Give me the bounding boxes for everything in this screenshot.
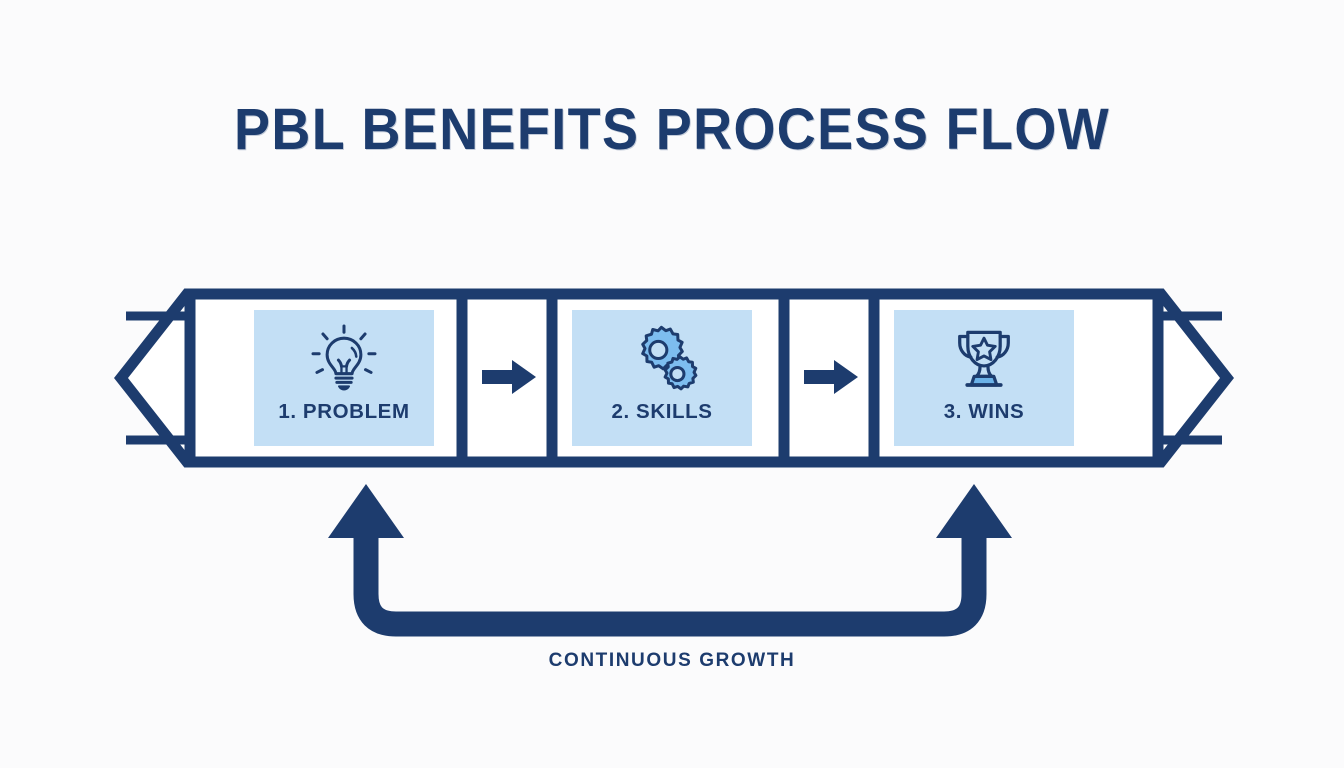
arrow-right-icon <box>802 356 862 398</box>
arrow-right-icon <box>480 356 540 398</box>
flow-step-label: 2. SKILLS <box>611 400 712 424</box>
flow-step-label: 3. WINS <box>944 400 1025 424</box>
trophy-icon <box>947 322 1021 396</box>
flow-step-label: 1. PROBLEM <box>278 400 409 424</box>
gears-icon <box>625 322 699 396</box>
flow-step-problem[interactable]: 1. PROBLEM <box>254 310 434 446</box>
page-title: PBL BENEFITS PROCESS FLOW <box>47 96 1297 163</box>
flow-step-wins[interactable]: 3. WINS <box>894 310 1074 446</box>
process-flow-banner: 1. PROBLEM 2. SKILLS <box>112 288 1236 468</box>
u-turn-loop-arrow <box>300 476 1040 646</box>
continuous-growth-label: CONTINUOUS GROWTH <box>0 650 1344 672</box>
lightbulb-icon <box>307 322 381 396</box>
continuous-growth-loop <box>300 476 1040 646</box>
flow-step-skills[interactable]: 2. SKILLS <box>572 310 752 446</box>
